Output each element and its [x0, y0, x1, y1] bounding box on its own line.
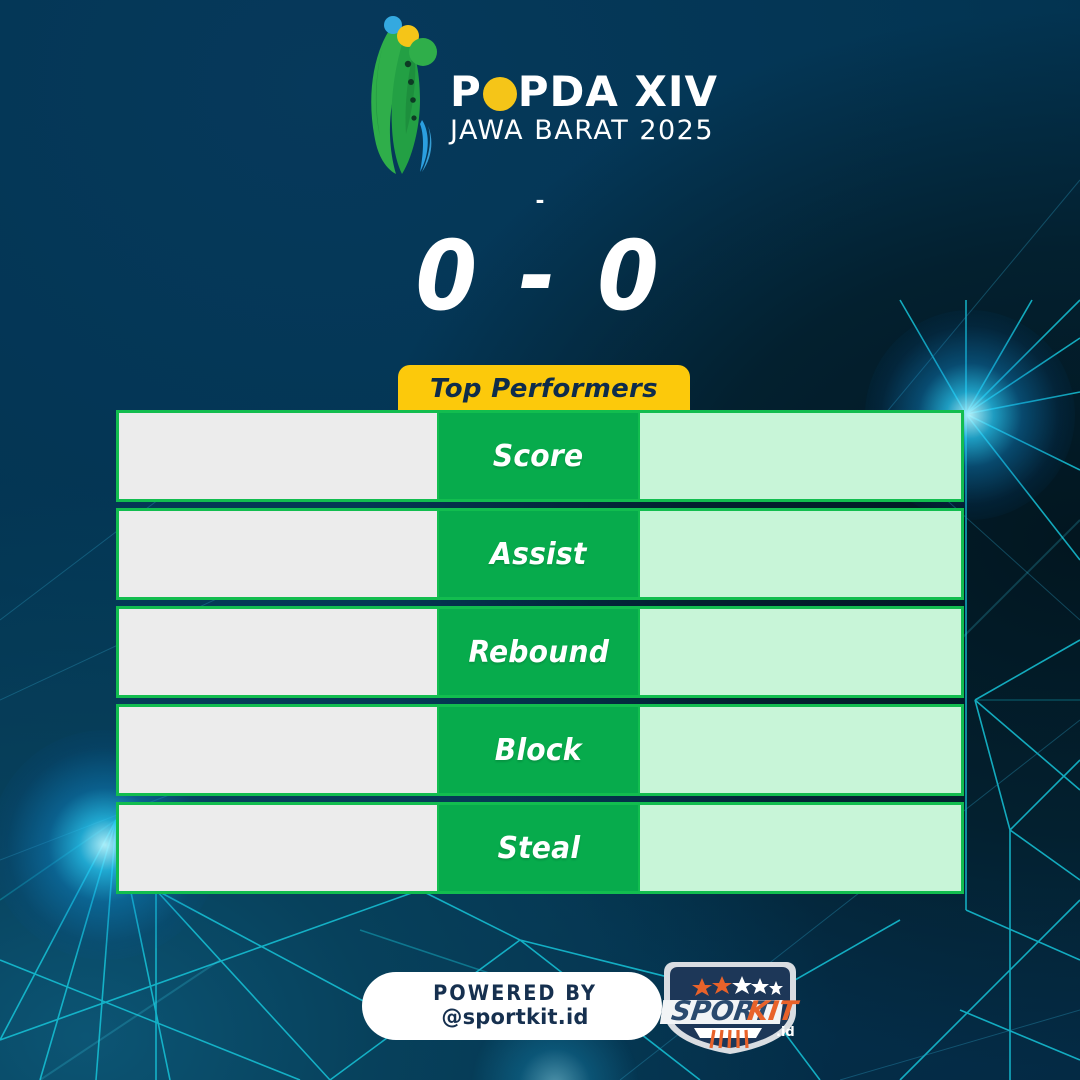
logo-title-rest: PDA XIV — [518, 71, 718, 113]
sportkit-handle[interactable]: @sportkit.id — [441, 1004, 588, 1030]
stat-label: Assist — [490, 537, 586, 572]
table-row[interactable]: Steal — [116, 802, 964, 894]
sportkit-shield-logo-icon[interactable]: SPORT KIT .id — [636, 952, 818, 1060]
player-right-cell[interactable] — [640, 511, 961, 597]
player-left-cell[interactable] — [119, 413, 437, 499]
logo-text-block: P PDA XIV JAWA BARAT 2025 — [450, 41, 718, 144]
svg-text:.id: .id — [776, 1025, 795, 1040]
logo-subtitle: JAWA BARAT 2025 — [450, 117, 714, 144]
logo-title: P PDA XIV — [450, 71, 718, 113]
top-performers-banner: Top Performers — [398, 365, 690, 413]
logo-o-circle-icon — [483, 77, 517, 111]
match-stage-label: - — [0, 186, 1080, 212]
table-row[interactable]: Block — [116, 704, 964, 796]
player-left-cell[interactable] — [119, 707, 437, 793]
stat-cell: Steal — [439, 805, 638, 891]
powered-by-label: POWERED BY — [433, 982, 597, 1004]
stat-label: Score — [493, 439, 583, 474]
powered-by-pill: POWERED BY @sportkit.id — [362, 972, 662, 1040]
stat-cell: Score — [439, 413, 638, 499]
header: P PDA XIV JAWA BARAT 2025 — [0, 8, 1080, 176]
player-right-cell[interactable] — [640, 413, 961, 499]
player-left-cell[interactable] — [119, 609, 437, 695]
player-right-cell[interactable] — [640, 609, 961, 695]
svg-text:KIT: KIT — [745, 996, 801, 1027]
table-row[interactable]: Rebound — [116, 606, 964, 698]
logo-title-p: P — [450, 71, 482, 113]
top-performers-table: Score Assist Rebound Block Steal — [116, 410, 964, 894]
table-row[interactable]: Score — [116, 410, 964, 502]
player-right-cell[interactable] — [640, 805, 961, 891]
table-row[interactable]: Assist — [116, 508, 964, 600]
stat-label: Steal — [497, 831, 580, 866]
stat-label: Block — [495, 733, 582, 768]
top-performers-banner-label: Top Performers — [430, 374, 658, 404]
player-right-cell[interactable] — [640, 707, 961, 793]
stat-label: Rebound — [468, 635, 609, 670]
stat-cell: Rebound — [439, 609, 638, 695]
scoreline: 0 - 0 — [43, 228, 1037, 324]
stat-cell: Block — [439, 707, 638, 793]
player-left-cell[interactable] — [119, 805, 437, 891]
stat-cell: Assist — [439, 511, 638, 597]
popda-leaf-mark-icon — [362, 8, 444, 176]
event-logo: P PDA XIV JAWA BARAT 2025 — [362, 8, 718, 176]
player-left-cell[interactable] — [119, 511, 437, 597]
footer: POWERED BY @sportkit.id SPORT KIT .id — [362, 952, 818, 1060]
